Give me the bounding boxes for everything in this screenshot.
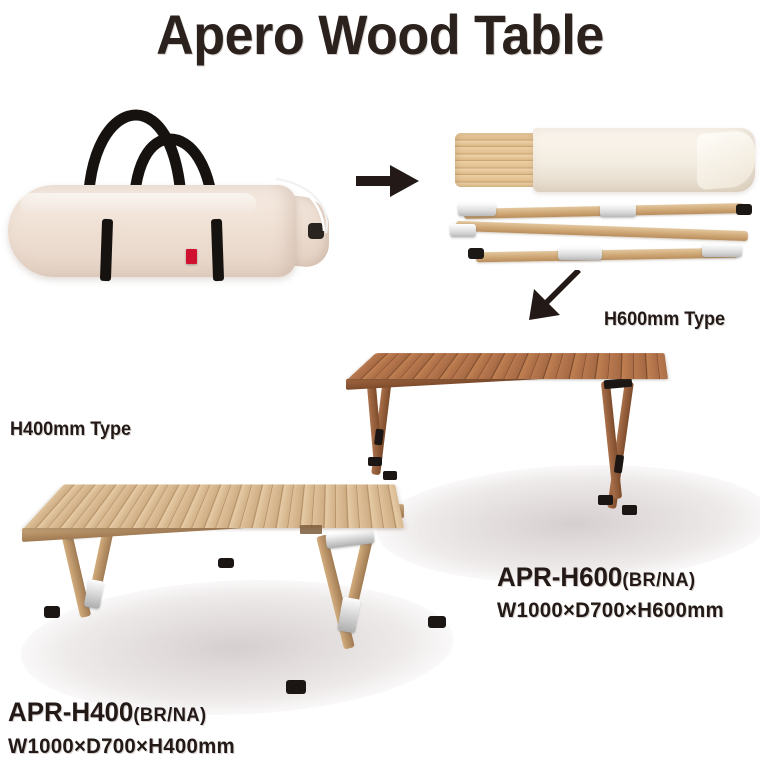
leg-foot-cap [622, 505, 637, 515]
leg-bracket [600, 204, 636, 217]
brand-plate [300, 525, 322, 534]
folded-leg-bar [456, 221, 748, 241]
leg-foot-cap [598, 495, 613, 505]
leg-bracket [558, 247, 602, 260]
folded-leg-frames [450, 200, 760, 270]
arrow-diagonal-icon [527, 270, 583, 327]
model-label-h600: APR-H600(BR/NA) [497, 562, 696, 593]
leg-foot-cap [218, 558, 234, 568]
bag-body [8, 185, 296, 277]
model-code: APR-H400 [8, 697, 133, 727]
bag-strap-left [100, 219, 113, 281]
leg-bracket [458, 203, 496, 216]
dimensions-label-h600: W1000×D700×H600mm [497, 599, 724, 623]
drawstring-cord [266, 177, 346, 252]
model-variant: (BR/NA) [133, 705, 206, 726]
arrow-right-icon [356, 163, 420, 204]
leg-foot-cap [286, 680, 306, 694]
folded-leg-bar [476, 248, 738, 263]
table-top-slats [24, 484, 404, 528]
rolled-tabletop-in-sleeve [455, 125, 755, 195]
leg-foot-cap [44, 606, 60, 618]
leg-foot-cap [468, 248, 484, 259]
table-shadow [0, 580, 477, 715]
leg-bracket [702, 244, 742, 257]
brand-logo-tag [186, 249, 197, 264]
product-image-canvas: Apero Wood Table [0, 0, 760, 760]
model-label-h400: APR-H400(BR/NA) [8, 697, 207, 728]
product-photo-h400 [0, 430, 470, 730]
leg-foot-cap [428, 616, 446, 628]
table-top-slats [348, 353, 668, 379]
model-variant: (BR/NA) [622, 570, 695, 591]
storage-sleeve [533, 128, 755, 192]
leg-bracket [450, 224, 476, 237]
carry-bag [8, 175, 338, 285]
leg-foot-cap [736, 204, 752, 215]
model-code: APR-H600 [497, 562, 622, 592]
page-title: Apero Wood Table [27, 2, 734, 67]
dimensions-label-h400: W1000×D700×H400mm [8, 735, 235, 759]
bag-strap-right [211, 219, 224, 281]
